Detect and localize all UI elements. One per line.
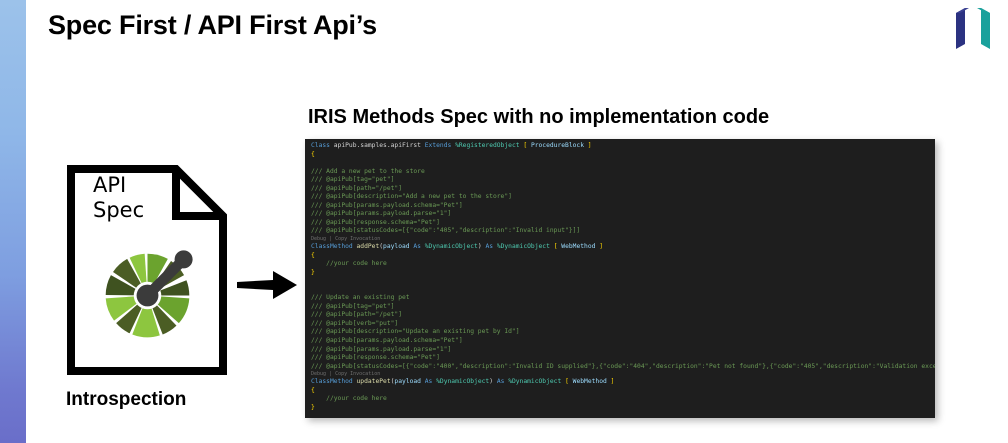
code-line[interactable]: Class apiPub.samples.apiFirst Extends %R… bbox=[311, 142, 935, 151]
page-title: Spec First / API First Api’s bbox=[48, 10, 377, 41]
code-token: ClassMethod bbox=[311, 243, 357, 250]
code-line[interactable]: /// @apiPub[verb="put"] bbox=[311, 320, 935, 329]
code-line[interactable]: //your code here bbox=[311, 260, 935, 269]
code-editor-panel: Class apiPub.samples.apiFirst Extends %R… bbox=[305, 139, 935, 418]
code-token: /// @apiPub[params.payload.schema="Pet"] bbox=[311, 202, 463, 209]
code-token: ] bbox=[595, 243, 603, 250]
api-spec-label: API Spec bbox=[93, 173, 144, 223]
code-token: %DynamicObject bbox=[508, 378, 565, 385]
slide-accent-strip bbox=[0, 0, 26, 443]
intersystems-logo-icon bbox=[954, 6, 992, 52]
code-panel-heading: IRIS Methods Spec with no implementation… bbox=[308, 106, 769, 129]
code-token: updatePet bbox=[357, 378, 391, 385]
code-line[interactable]: /// @apiPub[description="Update an exist… bbox=[311, 328, 935, 337]
code-token: /// @apiPub[params.payload.parse="1"] bbox=[311, 346, 451, 353]
code-token: ProcedureBlock bbox=[531, 142, 584, 149]
code-token: ] bbox=[607, 378, 615, 385]
introspection-caption: Introspection bbox=[66, 389, 186, 411]
code-token: /// @apiPub[params.payload.parse="1"] bbox=[311, 210, 451, 217]
code-line[interactable]: /// @apiPub[statusCodes=[{"code":"400","… bbox=[311, 363, 935, 372]
code-token: As bbox=[485, 243, 496, 250]
code-token: { bbox=[311, 387, 315, 394]
code-line[interactable]: } bbox=[311, 404, 935, 413]
code-line[interactable]: /// Update an existing pet bbox=[311, 294, 935, 303]
flow-arrow-right-icon bbox=[237, 268, 299, 302]
code-token: { bbox=[311, 151, 315, 158]
code-token: /// @apiPub[description="Update an exist… bbox=[311, 328, 520, 335]
codelens-actions[interactable]: Debug | Copy Invocation bbox=[311, 236, 935, 243]
code-token: /// @apiPub[tag="pet"] bbox=[311, 176, 394, 183]
code-line[interactable] bbox=[311, 286, 935, 295]
code-token: /// @apiPub[statusCodes=[{"code":"405","… bbox=[311, 227, 580, 234]
code-line[interactable]: /// @apiPub[params.payload.schema="Pet"] bbox=[311, 202, 935, 211]
code-token: /// @apiPub[path="/pet"] bbox=[311, 311, 402, 318]
code-line[interactable] bbox=[311, 277, 935, 286]
iris-gauge-logo-icon bbox=[100, 248, 195, 343]
code-token: /// @apiPub[verb="put"] bbox=[311, 320, 398, 327]
code-line[interactable]: /// @apiPub[path="/pet"] bbox=[311, 185, 935, 194]
code-line[interactable]: /// @apiPub[tag="pet"] bbox=[311, 303, 935, 312]
code-token: Extends bbox=[425, 142, 455, 149]
code-token: /// Update an existing pet bbox=[311, 294, 410, 301]
code-line[interactable]: /// @apiPub[response.schema="Pet"] bbox=[311, 354, 935, 363]
code-line[interactable]: ClassMethod updatePet(payload As %Dynami… bbox=[311, 378, 935, 387]
codelens-actions[interactable]: Debug | Copy Invocation bbox=[311, 371, 935, 378]
code-token: /// @apiPub[response.schema="Pet"] bbox=[311, 219, 440, 226]
code-token: /// @apiPub[statusCodes=[{"code":"400","… bbox=[311, 363, 935, 370]
code-line[interactable]: ClassMethod addPet(payload As %DynamicOb… bbox=[311, 243, 935, 252]
code-token: As bbox=[425, 378, 436, 385]
code-token: //your code here bbox=[311, 260, 387, 267]
code-token: /// @apiPub[response.schema="Pet"] bbox=[311, 354, 440, 361]
code-token: //your code here bbox=[311, 395, 387, 402]
code-token: [ bbox=[523, 142, 531, 149]
code-token: WebMethod bbox=[573, 378, 607, 385]
code-token: /// @apiPub[description="Add a new pet t… bbox=[311, 193, 512, 200]
api-spec-label-line1: API bbox=[93, 173, 144, 198]
code-line[interactable]: { bbox=[311, 151, 935, 160]
code-line[interactable] bbox=[311, 159, 935, 168]
code-token: %DynamicObject bbox=[425, 243, 478, 250]
code-line[interactable]: /// @apiPub[params.payload.parse="1"] bbox=[311, 210, 935, 219]
code-token: } bbox=[311, 269, 315, 276]
code-token: %DynamicObject bbox=[436, 378, 489, 385]
code-token: WebMethod bbox=[561, 243, 595, 250]
code-line[interactable]: { bbox=[311, 387, 935, 396]
code-line[interactable]: /// @apiPub[statusCodes=[{"code":"405","… bbox=[311, 227, 935, 236]
api-spec-label-line2: Spec bbox=[93, 198, 144, 223]
code-token: As bbox=[497, 378, 508, 385]
code-token: /// @apiPub[path="/pet"] bbox=[311, 185, 402, 192]
code-token: ClassMethod bbox=[311, 378, 357, 385]
code-token: [ bbox=[565, 378, 573, 385]
code-token: addPet bbox=[357, 243, 380, 250]
code-token: { bbox=[311, 252, 315, 259]
code-line[interactable]: } bbox=[311, 269, 935, 278]
code-line[interactable]: /// @apiPub[path="/pet"] bbox=[311, 311, 935, 320]
code-line[interactable]: //your code here bbox=[311, 395, 935, 404]
code-line[interactable]: /// @apiPub[description="Add a new pet t… bbox=[311, 193, 935, 202]
code-token: ] bbox=[584, 142, 592, 149]
code-token: /// Add a new pet to the store bbox=[311, 168, 425, 175]
code-token: } bbox=[311, 404, 315, 411]
code-line[interactable]: /// @apiPub[tag="pet"] bbox=[311, 176, 935, 185]
code-line[interactable]: /// Add a new pet to the store bbox=[311, 168, 935, 177]
code-token: apiPub.samples.apiFirst bbox=[334, 142, 425, 149]
code-line[interactable]: /// @apiPub[params.payload.schema="Pet"] bbox=[311, 337, 935, 346]
code-token: /// @apiPub[params.payload.schema="Pet"] bbox=[311, 337, 463, 344]
code-line[interactable]: /// @apiPub[response.schema="Pet"] bbox=[311, 219, 935, 228]
code-token: ) bbox=[489, 378, 497, 385]
code-token: payload bbox=[383, 243, 413, 250]
code-token: %RegisteredObject bbox=[455, 142, 523, 149]
code-token: Class bbox=[311, 142, 334, 149]
code-token: As bbox=[413, 243, 424, 250]
code-token: payload bbox=[394, 378, 424, 385]
code-line[interactable]: { bbox=[311, 252, 935, 261]
code-token: /// @apiPub[tag="pet"] bbox=[311, 303, 394, 310]
code-line[interactable]: /// @apiPub[params.payload.parse="1"] bbox=[311, 346, 935, 355]
code-token: %DynamicObject bbox=[497, 243, 554, 250]
